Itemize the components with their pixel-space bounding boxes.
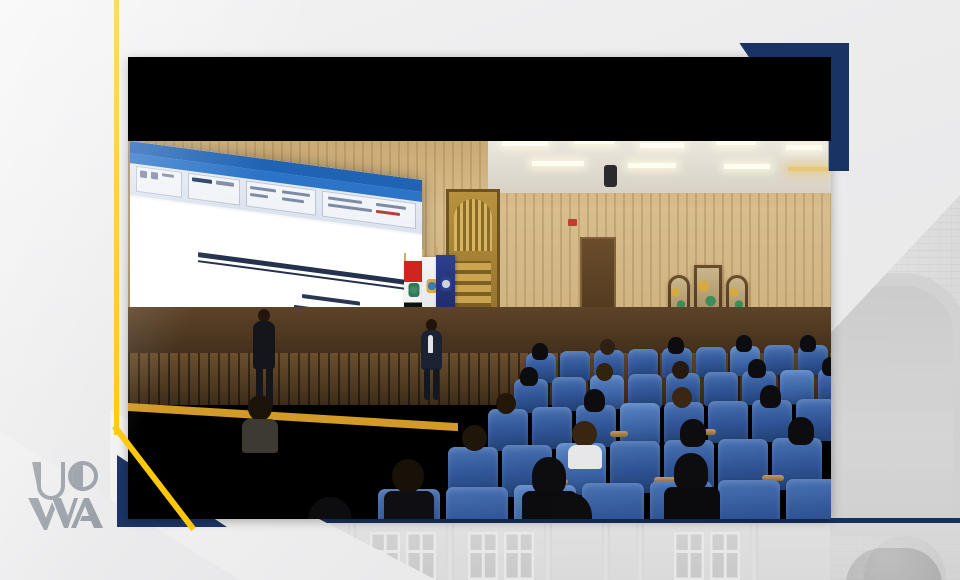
hedge-icon — [846, 548, 942, 580]
ceiling — [488, 133, 831, 193]
option-line-1 — [302, 294, 360, 305]
exit-sign-icon — [568, 219, 577, 226]
question-text-line — [198, 252, 406, 285]
photo-letterbox-bar — [128, 57, 831, 141]
blue-flag-emblem — [440, 277, 451, 291]
lecture-hall-photo — [128, 57, 831, 519]
stage-edge-trim — [128, 403, 458, 431]
iraq-flag-emblem — [408, 283, 419, 297]
uowa-logo — [26, 458, 104, 530]
ceiling-speaker-icon — [604, 165, 617, 187]
slide-canvas — [0, 0, 960, 580]
yellow-frame-vertical — [114, 0, 119, 435]
